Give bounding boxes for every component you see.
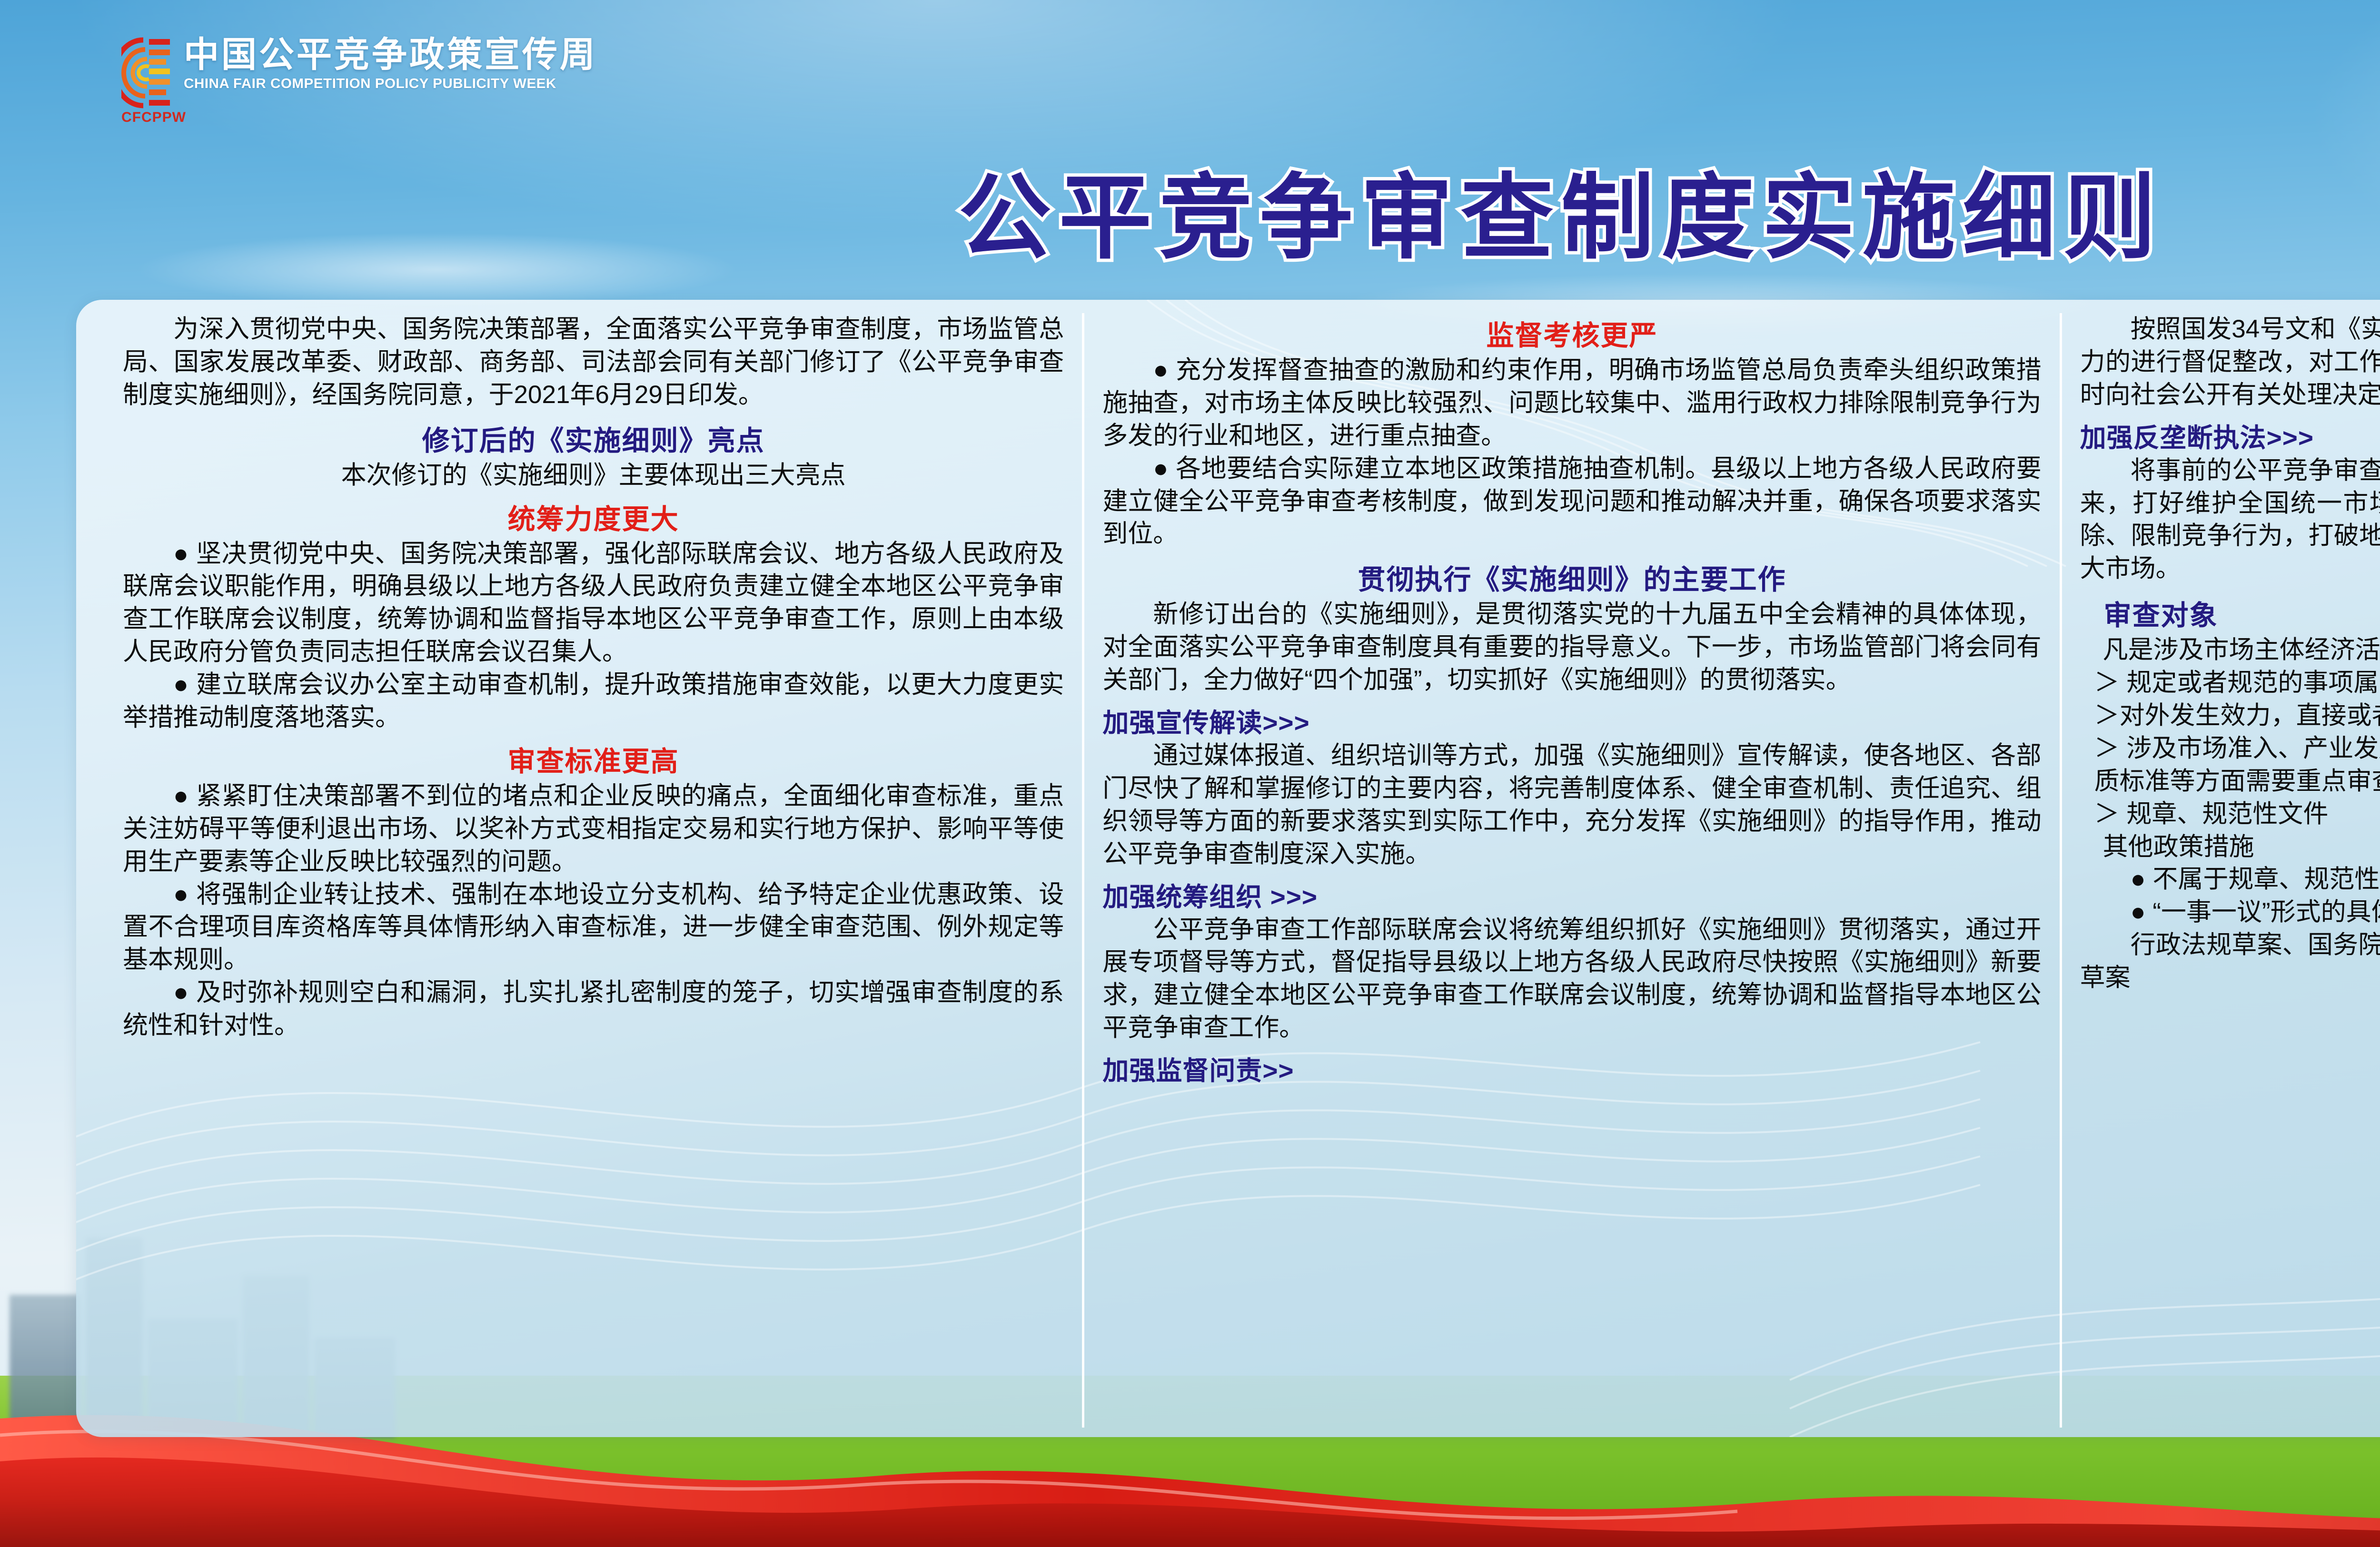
antitrust-body: 将事前的公平竞争审查与事后的滥用行政权力排除、限制竞争反垄断执法结合起来，打好维… <box>2080 454 2380 586</box>
column-3: 按照国发34号文和《实施细则》规定严格责任追究，对落实公平竞争审查制度不力的进行… <box>2060 313 2380 1428</box>
subject-item-0: ＞ 规定或者规范的事项属于经济性事项 <box>2080 667 2380 700</box>
brand-name-en: CHINA FAIR COMPETITION POLICY PUBLICITY … <box>184 76 605 92</box>
standard-para-2: ● 将强制企业转让技术、强制在本地设立分支机构、给予特定企业优惠政策、设置不合理… <box>123 878 1064 977</box>
mainwork-para-1: 新修订出台的《实施细则》，是贯彻落实党的十九届五中全会精神的具体体现，对全面落实… <box>1102 598 2041 697</box>
standard-para-1: ● 紧紧盯住决策部署不到位的堵点和企业反映的痛点，全面细化审查标准，重点关注妨碍… <box>123 780 1064 878</box>
publicity-body: 通过媒体报道、组织培训等方式，加强《实施细则》宣传解读，使各地区、各部门尽快了解… <box>1102 739 2041 871</box>
cfcppw-logo-icon: CFCPPW <box>121 37 171 118</box>
subject-item-2: ＞ 涉及市场准入、产业发展、招商引资、招标投标、政府采购、经营行为规范、资质标准… <box>2080 732 2380 798</box>
standard-para-3: ● 及时弥补规则空白和漏洞，扎实扎紧扎密制度的笼子，切实增强审查制度的系统性和针… <box>123 976 1064 1042</box>
intro-paragraph: 为深入贯彻党中央、国务院决策部署，全面落实公平竞争审查制度，市场监管总局、国家发… <box>123 313 1064 412</box>
subheading-accountability: 加强监督问责>> <box>1102 1049 2041 1087</box>
accountability-para-1: 按照国发34号文和《实施细则》规定严格责任追究，对落实公平竞争审查制度不力的进行… <box>2080 313 2380 412</box>
subheading-organization: 加强统筹组织 >>> <box>1102 876 2041 914</box>
supervision-para-1: ● 充分发挥督查抽查的激励和约束作用，明确市场监管总局负责牵头组织政策措施抽查，… <box>1102 354 2041 453</box>
page-title: 公平竞争审查制度实施细则 <box>0 143 2380 277</box>
subject-para-b: ● “一事一议”形式的具体政策措施等 <box>2080 896 2380 929</box>
subject-lead: 凡是涉及市场主体经济活动的政策措施都要审查 <box>2080 634 2380 667</box>
subject-item-3: ＞ 规章、规范性文件 <box>2080 798 2380 831</box>
heading-highlights: 修订后的《实施细则》亮点 <box>123 418 1064 458</box>
subject-other: 其他政策措施 <box>2080 831 2380 864</box>
poster-root: 人民大团结万岁 CFCPPW 中国公平竞争政策宣传周 CH <box>0 0 2380 1547</box>
logo-abbrev: CFCPPW <box>121 109 171 126</box>
subject-para-c: 行政法规草案、国务院文件送审稿、地方性法规草案 <box>2080 929 2380 995</box>
coordination-para-2: ● 建立联席会议办公室主动审查机制，提升政策措施审查效能，以更大力度更实举措推动… <box>123 669 1064 734</box>
heading-mainwork: 贯彻执行《实施细则》的主要工作 <box>1102 557 2041 597</box>
subheading-publicity: 加强宣传解读>>> <box>1102 701 2041 739</box>
highlights-lead: 本次修订的《实施细则》主要体现出三大亮点 <box>123 459 1064 492</box>
organization-body: 公平竞争审查工作部际联席会议将统筹组织抓好《实施细则》贯彻落实，通过开展专项督导… <box>1102 914 2041 1045</box>
subheading-antitrust: 加强反垄断执法>>> <box>2080 416 2380 454</box>
column-2: 监督考核更严 ● 充分发挥督查抽查的激励和约束作用，明确市场监管总局负责牵头组织… <box>1082 313 2059 1428</box>
column-1: 为深入贯彻党中央、国务院决策部署，全面落实公平竞争审查制度，市场监管总局、国家发… <box>105 313 1082 1428</box>
heading-coordination: 统筹力度更大 <box>123 497 1064 537</box>
heading-standard: 审查标准更高 <box>123 739 1064 779</box>
heading-review-subject: 审查对象 <box>2080 593 2380 633</box>
subject-item-1: ＞对外发生效力，直接或者间接影响市场主体权益 <box>2080 700 2380 732</box>
content-panel: 为深入贯彻党中央、国务院决策部署，全面落实公平竞争审查制度，市场监管总局、国家发… <box>76 300 2380 1437</box>
coordination-para-1: ● 坚决贯彻党中央、国务院决策部署，强化部际联席会议、地方各级人民政府及联席会议… <box>123 538 1064 669</box>
subject-para-a: ● 不属于规章、规范性文件但涉及市场主体经济活动的政策性文件 <box>2080 863 2380 896</box>
supervision-para-2: ● 各地要结合实际建立本地区政策措施抽查机制。县级以上地方各级人民政府要建立健全… <box>1102 453 2041 551</box>
heading-supervision: 监督考核更严 <box>1102 313 2041 353</box>
brand-header: CFCPPW 中国公平竞争政策宣传周 CHINA FAIR COMPETITIO… <box>121 37 597 118</box>
brand-name-cn: 中国公平竞争政策宣传周 <box>184 37 597 72</box>
